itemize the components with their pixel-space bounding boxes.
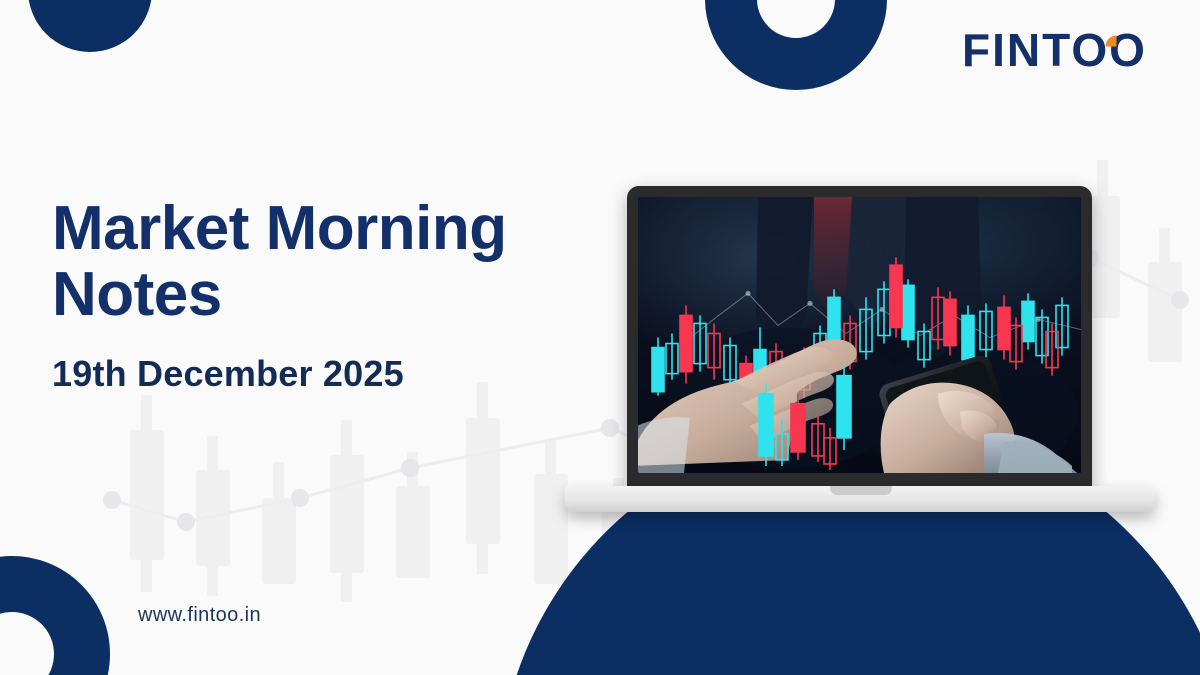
fintoo-logo[interactable]: FINTOO xyxy=(962,28,1160,80)
fintoo-logo-text: FINTOO xyxy=(962,28,1147,76)
page-title: Market Morning Notes xyxy=(52,196,612,327)
website-url[interactable]: www.fintoo.in xyxy=(138,604,261,627)
headline-block: Market Morning Notes 19th December 2025 xyxy=(52,196,612,395)
laptop-mockup xyxy=(565,186,1155,526)
laptop-base xyxy=(565,486,1155,512)
laptop-lid xyxy=(627,186,1092,493)
laptop-screen xyxy=(638,197,1081,473)
trading-photo xyxy=(638,197,1081,473)
headline-line-1: Market Morning xyxy=(52,194,507,263)
laptop-notch xyxy=(830,486,892,495)
marketing-banner: FINTOO Market Morning Notes 19th Decembe… xyxy=(0,0,1200,675)
headline-line-2: Notes xyxy=(52,260,222,329)
fintoo-logo-mark: FINTOO xyxy=(962,28,1160,80)
date-subtitle: 19th December 2025 xyxy=(52,353,612,395)
